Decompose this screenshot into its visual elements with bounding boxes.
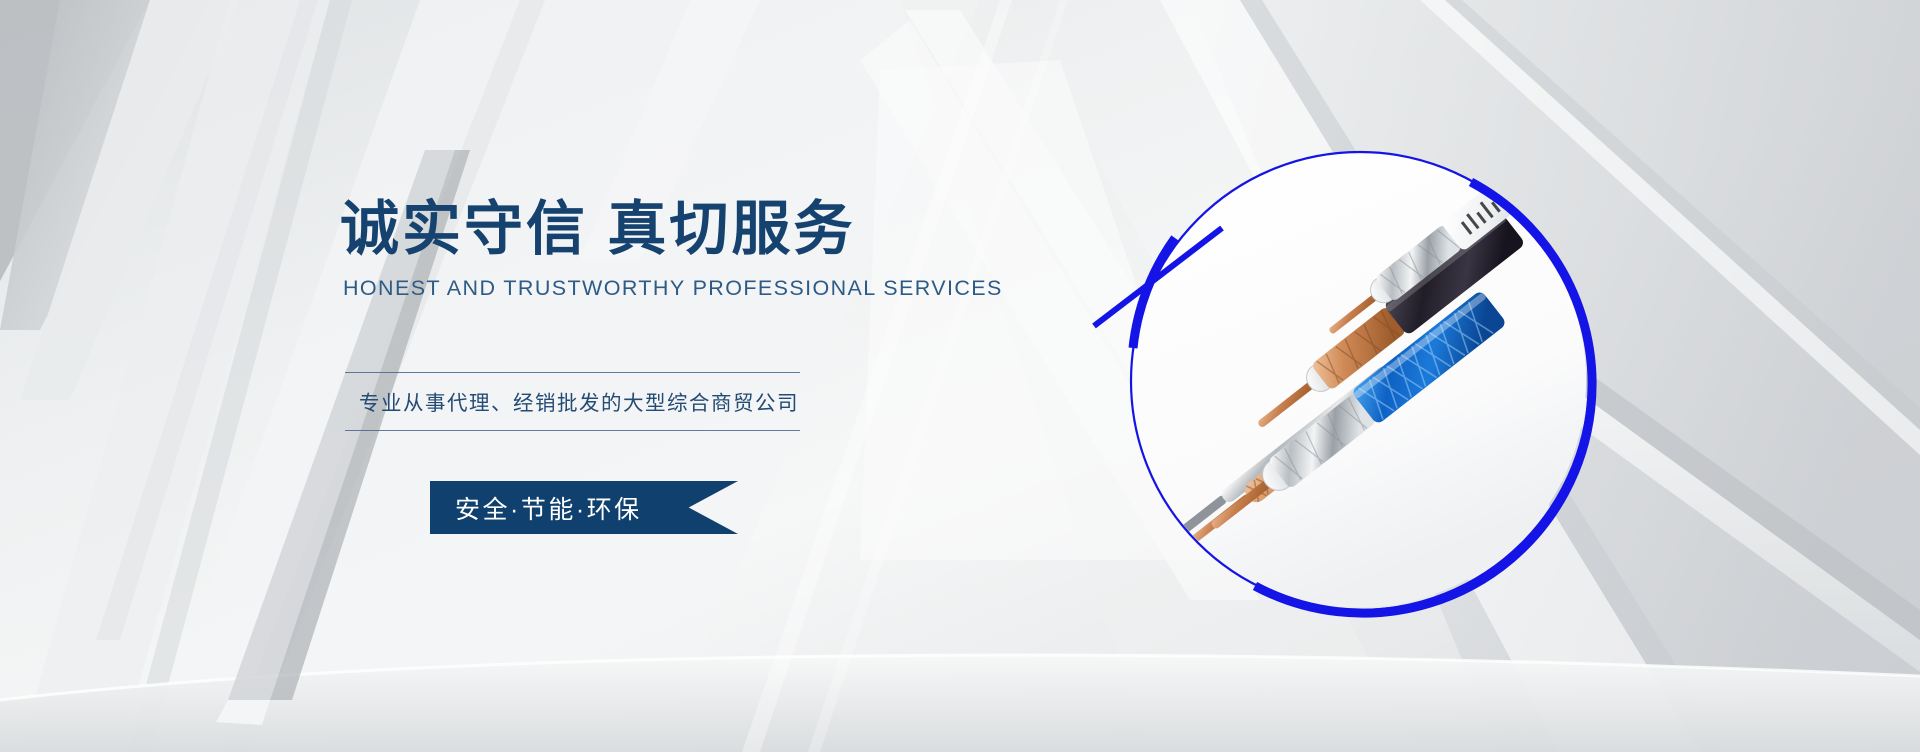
banner-copy: 诚实守信 真切服务 HONEST AND TRUSTWORTHY PROFESS… — [340, 196, 960, 301]
divider-bottom — [345, 430, 800, 431]
coaxial-cable-bundle-photo — [1131, 152, 1586, 607]
divider-top — [345, 372, 800, 373]
accent-line-upper-left — [1090, 222, 1230, 332]
page-title: 诚实守信 真切服务 — [340, 196, 960, 262]
background-geometry — [0, 0, 1920, 752]
description-text: 专业从事代理、经销批发的大型综合商贸公司 — [345, 373, 800, 430]
cable-illustration — [1131, 152, 1586, 607]
slogan-ribbon-label: 安全·节能·环保 — [455, 481, 642, 534]
subtitle-english: HONEST AND TRUSTWORTHY PROFESSIONAL SERV… — [343, 276, 960, 301]
hero-banner: 诚实守信 真切服务 HONEST AND TRUSTWORTHY PROFESS… — [0, 0, 1920, 752]
description-block: 专业从事代理、经销批发的大型综合商贸公司 — [345, 372, 800, 431]
background-decor — [0, 0, 1920, 752]
